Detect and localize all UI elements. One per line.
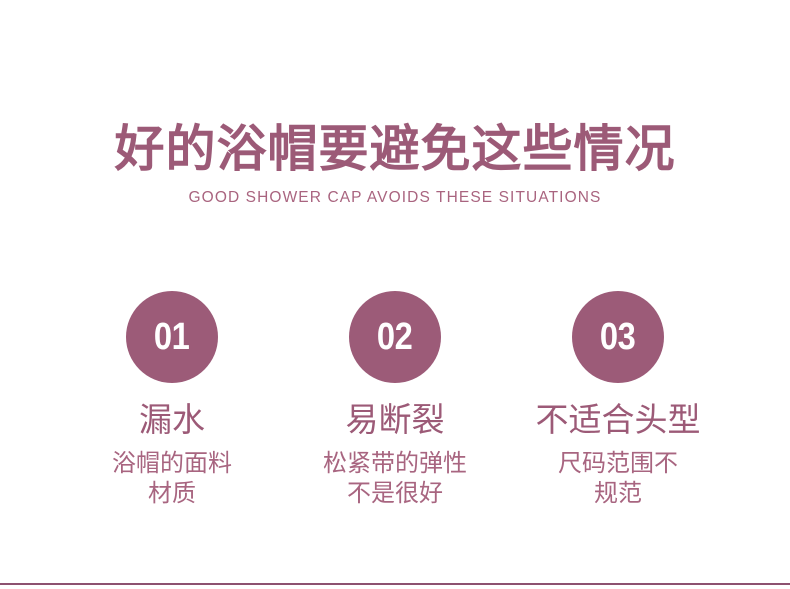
bottom-divider [0, 583, 790, 585]
header-block: 好的浴帽要避免这些情况 GOOD SHOWER CAP AVOIDS THESE… [0, 118, 790, 208]
number-badge-circle: 03 [572, 291, 664, 383]
feature-item-02: 02 易断裂 松紧带的弹性 不是很好 [284, 291, 506, 509]
feature-item-03: 03 不适合头型 尺码范围不 规范 [507, 291, 729, 509]
feature-description: 松紧带的弹性 不是很好 [323, 449, 467, 509]
page-subtitle: GOOD SHOWER CAP AVOIDS THESE SITUATIONS [0, 188, 790, 208]
feature-title: 漏水 [139, 400, 205, 440]
badge-number-label: 02 [377, 318, 413, 356]
feature-description-line-2: 不是很好 [323, 479, 467, 509]
feature-description: 尺码范围不 规范 [558, 449, 678, 509]
feature-description-line-1: 浴帽的面料 [112, 449, 232, 479]
feature-item-01: 01 漏水 浴帽的面料 材质 [61, 291, 283, 509]
number-badge-circle: 01 [126, 291, 218, 383]
feature-title: 不适合头型 [536, 400, 701, 440]
badge-number-label: 01 [154, 318, 190, 356]
feature-title: 易断裂 [346, 400, 445, 440]
page-title: 好的浴帽要避免这些情况 [0, 118, 790, 180]
feature-description-line-1: 尺码范围不 [558, 449, 678, 479]
feature-description-line-2: 规范 [558, 479, 678, 509]
number-badge-circle: 02 [349, 291, 441, 383]
feature-columns: 01 漏水 浴帽的面料 材质 02 易断裂 松紧带的弹性 不是很好 03 不适合… [61, 291, 729, 509]
feature-description: 浴帽的面料 材质 [112, 449, 232, 509]
badge-number-label: 03 [600, 318, 636, 356]
feature-description-line-2: 材质 [112, 479, 232, 509]
feature-description-line-1: 松紧带的弹性 [323, 449, 467, 479]
promo-banner: 好的浴帽要避免这些情况 GOOD SHOWER CAP AVOIDS THESE… [0, 0, 790, 589]
